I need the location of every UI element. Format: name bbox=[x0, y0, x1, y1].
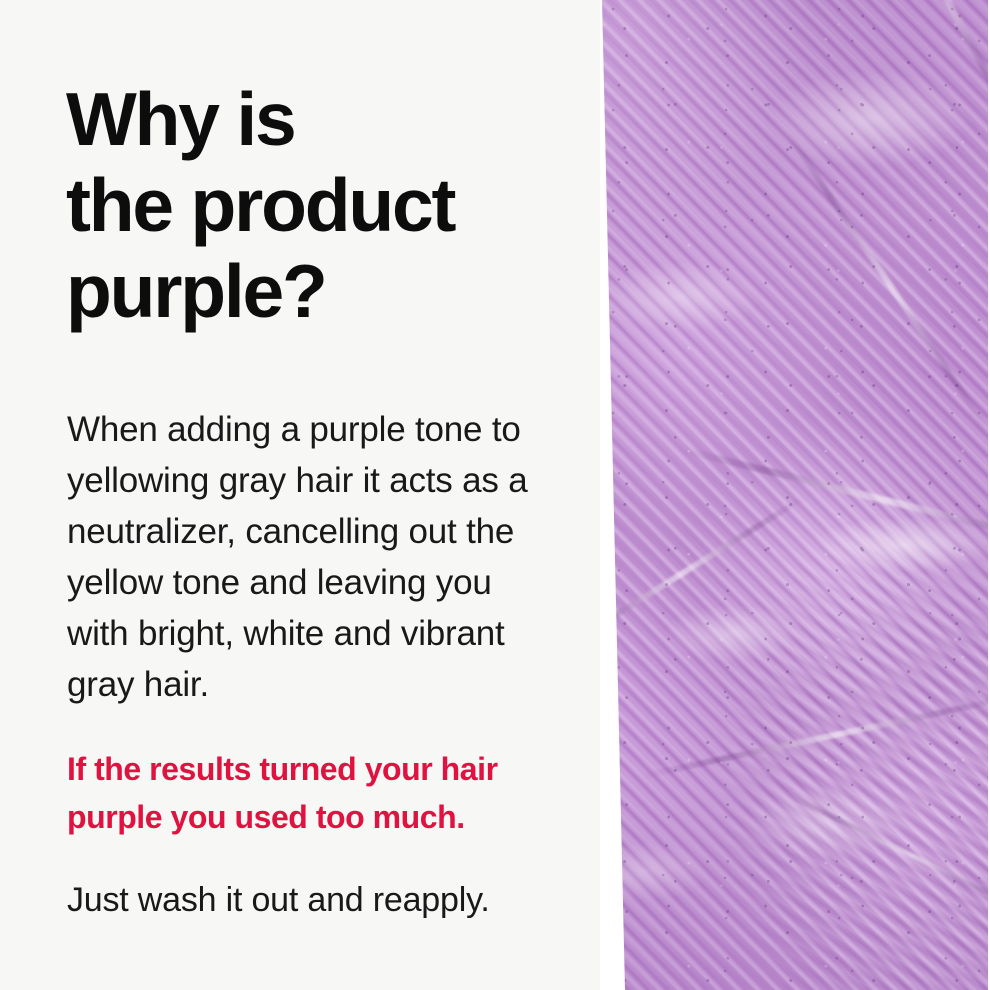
body-line-4: yellow tone and leaving you bbox=[67, 557, 587, 608]
warning-line-2: purple you used too much. bbox=[67, 793, 587, 841]
headline-line-2: the product bbox=[66, 162, 586, 248]
headline-line-3: purple? bbox=[66, 248, 586, 334]
product-texture-photo bbox=[560, 0, 990, 990]
infographic-canvas: Why is the product purple? When adding a… bbox=[0, 0, 990, 990]
body-line-3: neutralizer, cancelling out the bbox=[67, 506, 587, 557]
body-line-2: yellowing gray hair it acts as a bbox=[67, 455, 587, 506]
page-title: Why is the product purple? bbox=[66, 76, 586, 334]
photo-texture-base bbox=[560, 0, 990, 990]
copy-panel: Why is the product purple? When adding a… bbox=[0, 0, 600, 990]
warning-line-1: If the results turned your hair bbox=[67, 745, 587, 793]
body-paragraph: When adding a purple tone to yellowing g… bbox=[67, 404, 587, 710]
body-line-6: gray hair. bbox=[67, 659, 587, 710]
closing-paragraph: Just wash it out and reapply. bbox=[67, 876, 587, 924]
body-line-5: with bright, white and vibrant bbox=[67, 608, 587, 659]
warning-paragraph: If the results turned your hair purple y… bbox=[67, 745, 587, 841]
body-line-1: When adding a purple tone to bbox=[67, 404, 587, 455]
headline-line-1: Why is bbox=[66, 76, 586, 162]
